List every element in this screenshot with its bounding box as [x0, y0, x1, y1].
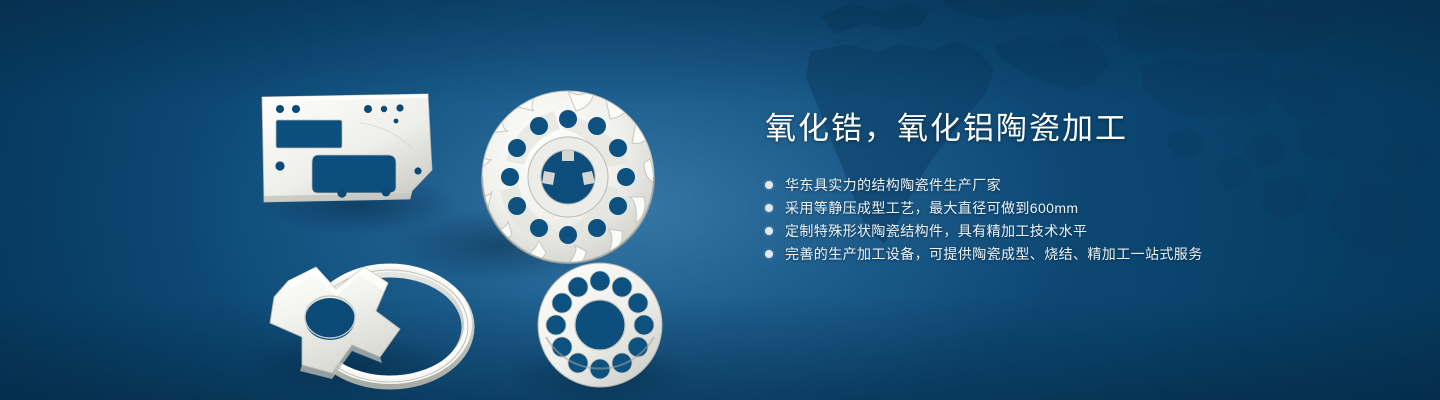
bullet-icon [765, 250, 773, 258]
bullet-icon [765, 181, 773, 189]
list-item: 华东具实力的结构陶瓷件生产厂家 [765, 174, 1325, 197]
ceramic-hole-ring-disc [538, 263, 662, 387]
list-item-label: 完善的生产加工设备，可提供陶瓷成型、烧结、精加工一站式服务 [785, 244, 1203, 264]
list-item-label: 定制特殊形状陶瓷结构件，具有精加工技术水平 [785, 221, 1087, 241]
product-images [240, 45, 710, 390]
bullet-icon [765, 204, 773, 212]
list-item: 定制特殊形状陶瓷结构件，具有精加工技术水平 [765, 220, 1325, 243]
feature-list: 华东具实力的结构陶瓷件生产厂家 采用等静压成型工艺，最大直径可做到600mm 定… [765, 174, 1325, 266]
page-title: 氧化锆，氧化铝陶瓷加工 [765, 110, 1325, 149]
list-item: 采用等静压成型工艺，最大直径可做到600mm [765, 197, 1325, 220]
list-item-label: 华东具实力的结构陶瓷件生产厂家 [785, 175, 1001, 195]
ceramic-flat-plate [262, 94, 432, 202]
list-item: 完善的生产加工设备，可提供陶瓷成型、烧结、精加工一站式服务 [765, 243, 1325, 266]
list-item-label: 采用等静压成型工艺，最大直径可做到600mm [785, 198, 1078, 218]
banner-copy: 氧化锆，氧化铝陶瓷加工 华东具实力的结构陶瓷件生产厂家 采用等静压成型工艺，最大… [765, 110, 1325, 266]
bullet-icon [765, 227, 773, 235]
hero-banner: 氧化锆，氧化铝陶瓷加工 华东具实力的结构陶瓷件生产厂家 采用等静压成型工艺，最大… [0, 0, 1440, 400]
